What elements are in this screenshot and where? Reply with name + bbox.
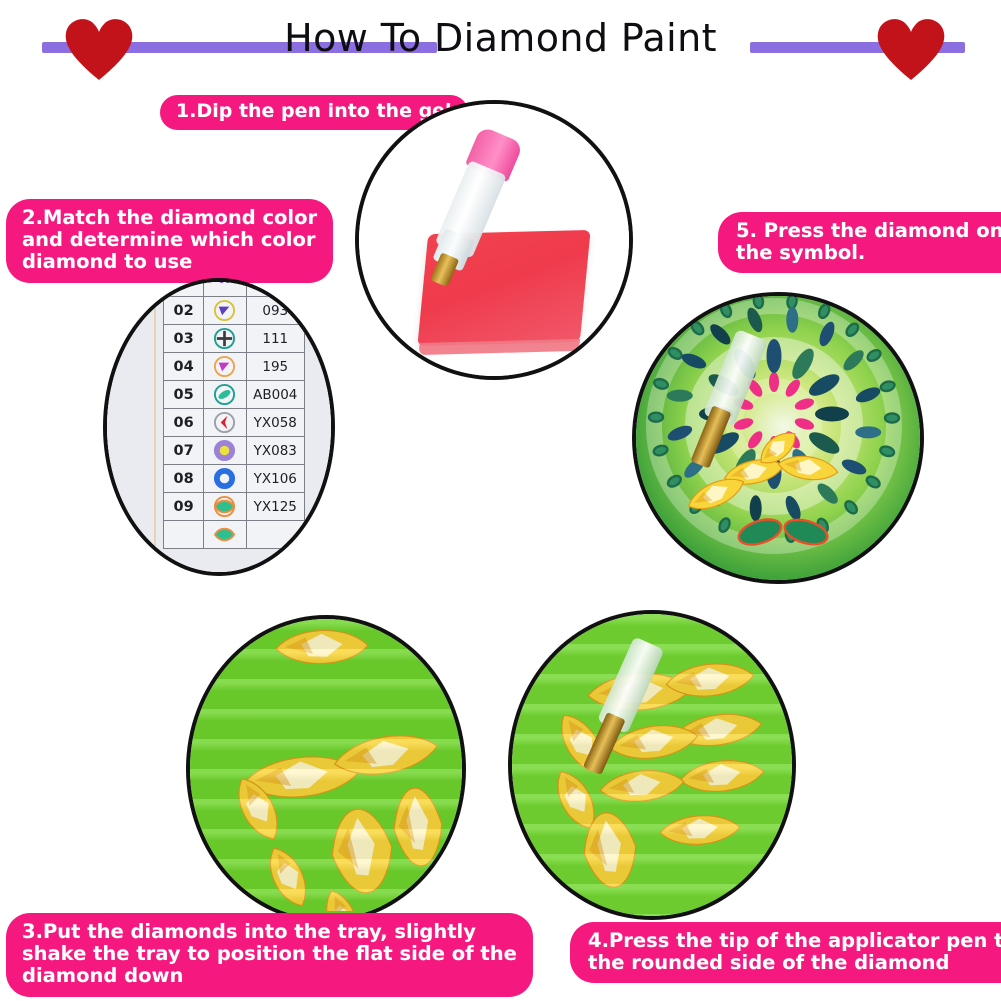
- mandala-petal: [855, 426, 881, 438]
- mandala-petal: [815, 407, 849, 422]
- tray-ridges: [190, 619, 462, 919]
- infographic-canvas: How To Diamond Paint 1.Dip the pen into …: [0, 0, 1001, 1001]
- step-2-line-2: and determine which color: [22, 229, 317, 251]
- chart-cell-symbol: [204, 297, 246, 325]
- step-4-photo: [508, 610, 796, 920]
- step-2-line-3: diamond to use: [22, 251, 317, 273]
- chart-cell-symbol: [204, 353, 246, 381]
- chart-cell-symbol: [204, 521, 246, 549]
- chart-cell-number: 04: [164, 353, 204, 381]
- page-title: How To Diamond Paint: [0, 16, 1001, 60]
- step-2-photo: 02002093031110419505AB00406YX05807YX0830…: [103, 278, 335, 576]
- step-4-line-1: 4.Press the tip of the applicator pen to: [588, 930, 1001, 952]
- chart-cell-number: 09: [164, 493, 204, 521]
- chart-cell-symbol: [204, 465, 246, 493]
- chart-cell-symbol: [204, 282, 246, 297]
- table-row: 08YX106: [164, 465, 305, 493]
- chart-cell-code: YX125: [246, 493, 305, 521]
- chart-cell-code: YX058: [246, 409, 305, 437]
- mandala-petal: [649, 413, 663, 422]
- chart-cell-code: AB004: [246, 381, 305, 409]
- chart-cell-code: [246, 521, 305, 549]
- chart-cell-number: 03: [164, 325, 204, 353]
- mandala-petal: [667, 390, 693, 402]
- chart-cell-number: 02: [164, 297, 204, 325]
- step-3-label: 3.Put the diamonds into the tray, slight…: [6, 913, 533, 997]
- table-row: [164, 521, 305, 549]
- step-5-photo: [632, 292, 924, 584]
- table-row: 05AB004: [164, 381, 305, 409]
- chart-cell-code: 020: [246, 282, 305, 297]
- table-row: 03111: [164, 325, 305, 353]
- table-row: 07YX083: [164, 437, 305, 465]
- chart-cell-symbol: [204, 493, 246, 521]
- chart-cell-code: YX083: [246, 437, 305, 465]
- step-2-label: 2.Match the diamond color and determine …: [6, 199, 333, 283]
- step-5-label: 5. Press the diamond onto the symbol.: [718, 212, 1001, 273]
- chart-cell-number: [164, 521, 204, 549]
- chart-cell-number: 08: [164, 465, 204, 493]
- table-row: 09YX125: [164, 493, 305, 521]
- step-1-photo: [355, 100, 633, 380]
- mandala-petal: [885, 414, 899, 423]
- table-row: 06YX058: [164, 409, 305, 437]
- color-chart-table: 02002093031110419505AB00406YX05807YX0830…: [163, 282, 305, 549]
- step-3-photo: [186, 615, 466, 923]
- step-4-label: 4.Press the tip of the applicator pen to…: [570, 922, 1001, 983]
- header: How To Diamond Paint: [0, 0, 1001, 86]
- pen-tip: [583, 712, 626, 775]
- step-5-line-2: the symbol.: [736, 242, 1001, 264]
- chart-cell-code: 093: [246, 297, 305, 325]
- chart-margin-line: [154, 282, 156, 572]
- step-2-line-1: 2.Match the diamond color: [22, 207, 317, 229]
- chart-cell-symbol: [204, 325, 246, 353]
- chart-cell-number: [164, 282, 204, 297]
- mandala-petal: [750, 495, 762, 521]
- chart-cell-code: 195: [246, 353, 305, 381]
- table-row: 02093: [164, 297, 305, 325]
- table-row: 04195: [164, 353, 305, 381]
- chart-cell-code: 111: [246, 325, 305, 353]
- pen-tip: [690, 405, 731, 468]
- chart-cell-code: YX106: [246, 465, 305, 493]
- table-row: 020: [164, 282, 305, 297]
- mandala-petal: [753, 296, 764, 309]
- step-4-line-2: the rounded side of the diamond: [588, 952, 1001, 974]
- mandala-petal: [786, 307, 798, 333]
- mandala-canvas: [636, 296, 912, 572]
- chart-cell-number: 07: [164, 437, 204, 465]
- step-3-line-2: shake the tray to position the flat side…: [22, 943, 517, 965]
- step-3-line-1: 3.Put the diamonds into the tray, slight…: [22, 921, 517, 943]
- chart-cell-number: 06: [164, 409, 204, 437]
- step-3-line-3: diamond down: [22, 965, 517, 987]
- chart-cell-number: 05: [164, 381, 204, 409]
- chart-cell-symbol: [204, 437, 246, 465]
- chart-cell-symbol: [204, 381, 246, 409]
- step-5-line-1: 5. Press the diamond onto: [736, 220, 1001, 242]
- mandala-petal: [769, 372, 779, 392]
- chart-cell-symbol: [204, 409, 246, 437]
